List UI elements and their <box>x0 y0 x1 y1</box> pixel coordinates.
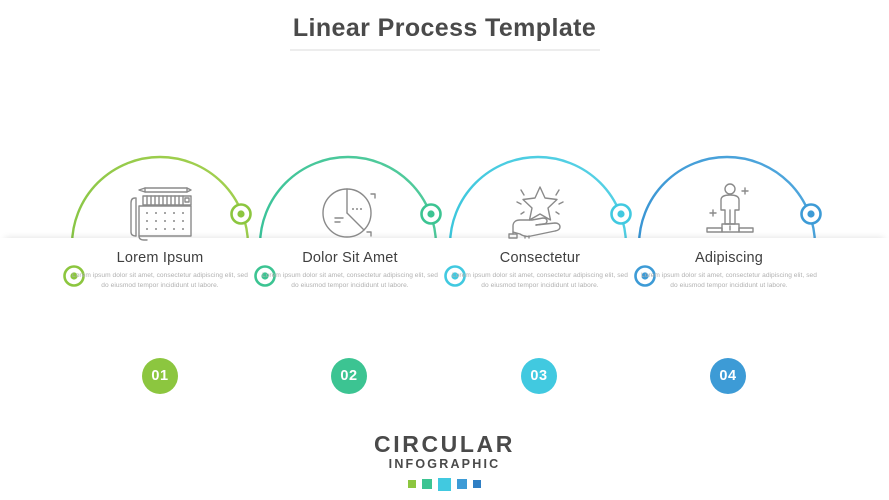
step-heading-4: Adipiscing <box>626 250 832 266</box>
step-heading-2: Dolor Sit Amet <box>247 250 453 266</box>
step-number-badge-4[interactable]: 04 <box>710 358 746 394</box>
logo-secondary-text: INFOGRAPHIC <box>0 457 889 471</box>
logo-swatch-row <box>0 478 889 491</box>
step-heading-1: Lorem Ipsum <box>57 250 263 266</box>
calendar-pencil-icon <box>125 184 195 242</box>
step-body-2: Lorem ipsum dolor sit amet, consectetur … <box>247 271 453 292</box>
pie-chart-icon <box>315 184 385 242</box>
footer-logo: CIRCULAR INFOGRAPHIC <box>0 432 889 491</box>
logo-swatch-5 <box>473 480 481 488</box>
step-number-badge-1[interactable]: 01 <box>142 358 178 394</box>
logo-swatch-4 <box>457 479 467 489</box>
logo-primary-text: CIRCULAR <box>0 432 889 456</box>
logo-swatch-3 <box>438 478 451 491</box>
infographic-canvas: Linear Process Template <box>0 0 889 500</box>
step-body-1: Lorem ipsum dolor sit amet, consectetur … <box>57 271 263 292</box>
step-body-4: Lorem ipsum dolor sit amet, consectetur … <box>626 271 832 292</box>
step-heading-3: Consectetur <box>437 250 643 266</box>
logo-swatch-1 <box>408 480 416 488</box>
step-number-badge-3[interactable]: 03 <box>521 358 557 394</box>
step-text-2: Dolor Sit Amet Lorem ipsum dolor sit ame… <box>247 250 453 292</box>
podium-person-icon <box>695 180 765 238</box>
step-number-badge-2[interactable]: 02 <box>331 358 367 394</box>
step-body-3: Lorem ipsum dolor sit amet, consectetur … <box>437 271 643 292</box>
step-text-1: Lorem Ipsum Lorem ipsum dolor sit amet, … <box>57 250 263 292</box>
logo-swatch-2 <box>422 479 432 489</box>
step-text-4: Adipiscing Lorem ipsum dolor sit amet, c… <box>626 250 832 292</box>
step-text-3: Consectetur Lorem ipsum dolor sit amet, … <box>437 250 643 292</box>
hand-star-icon <box>505 182 575 240</box>
